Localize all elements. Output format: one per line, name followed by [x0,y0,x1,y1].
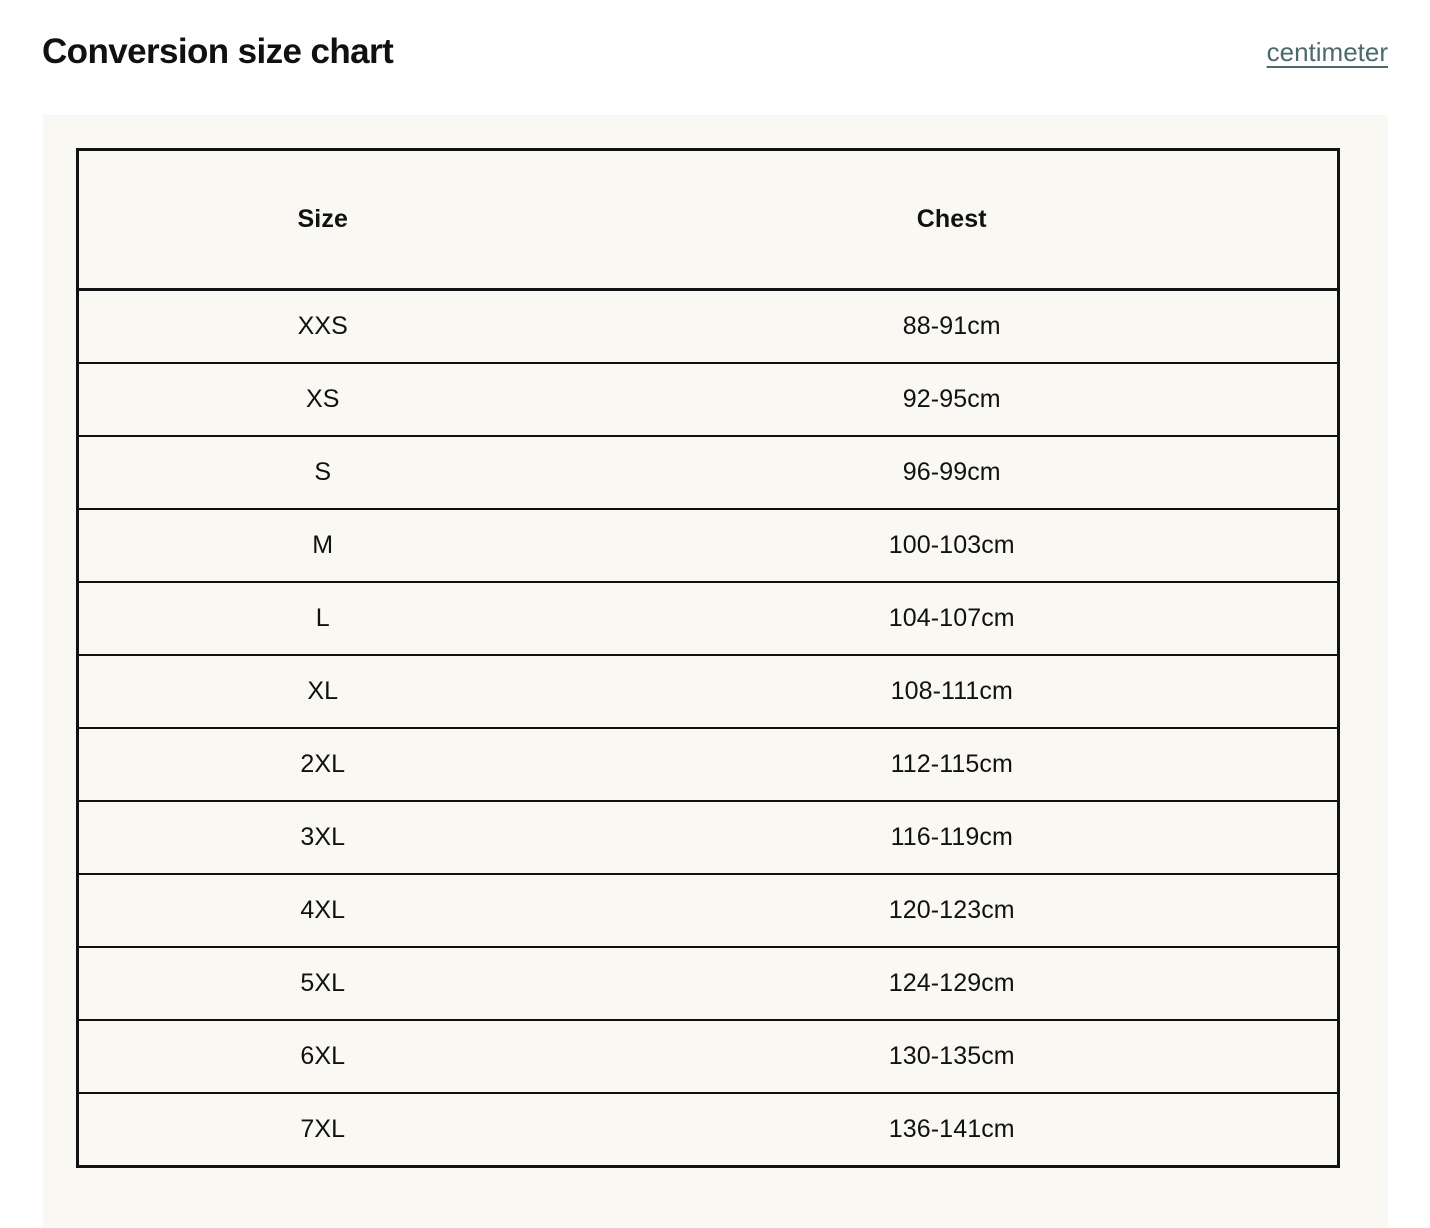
cell-chest: 120-123cm [567,874,1339,947]
cell-size: M [78,509,567,582]
cell-size: 3XL [78,801,567,874]
cell-size: 7XL [78,1093,567,1167]
size-chart-page: Conversion size chart centimeter Size Ch… [0,0,1430,1228]
table-header-row: Size Chest [78,150,1339,290]
table-row: XL108-111cm [78,655,1339,728]
column-header-size: Size [78,150,567,290]
cell-size: 5XL [78,947,567,1020]
unit-toggle-link[interactable]: centimeter [1267,36,1388,69]
cell-size: 2XL [78,728,567,801]
conversion-size-table: Size Chest XXS88-91cmXS92-95cmS96-99cmM1… [76,148,1340,1168]
cell-chest: 96-99cm [567,436,1339,509]
table-body: XXS88-91cmXS92-95cmS96-99cmM100-103cmL10… [78,290,1339,1167]
cell-chest: 136-141cm [567,1093,1339,1167]
cell-size: S [78,436,567,509]
table-row: 5XL124-129cm [78,947,1339,1020]
cell-size: XL [78,655,567,728]
table-row: 7XL136-141cm [78,1093,1339,1167]
table-header: Size Chest [78,150,1339,290]
cell-chest: 88-91cm [567,290,1339,364]
cell-size: XXS [78,290,567,364]
cell-chest: 108-111cm [567,655,1339,728]
page-header: Conversion size chart centimeter [0,0,1430,112]
table-row: XXS88-91cm [78,290,1339,364]
cell-chest: 130-135cm [567,1020,1339,1093]
cell-chest: 116-119cm [567,801,1339,874]
page-title: Conversion size chart [42,30,393,74]
table-row: L104-107cm [78,582,1339,655]
cell-chest: 100-103cm [567,509,1339,582]
table-row: 2XL112-115cm [78,728,1339,801]
column-header-chest: Chest [567,150,1339,290]
size-chart-panel: Size Chest XXS88-91cmXS92-95cmS96-99cmM1… [43,115,1388,1228]
table-row: M100-103cm [78,509,1339,582]
cell-chest: 104-107cm [567,582,1339,655]
cell-size: L [78,582,567,655]
table-row: 3XL116-119cm [78,801,1339,874]
table-row: XS92-95cm [78,363,1339,436]
table-row: 4XL120-123cm [78,874,1339,947]
cell-chest: 124-129cm [567,947,1339,1020]
cell-chest: 92-95cm [567,363,1339,436]
table-row: S96-99cm [78,436,1339,509]
cell-chest: 112-115cm [567,728,1339,801]
table-row: 6XL130-135cm [78,1020,1339,1093]
cell-size: 6XL [78,1020,567,1093]
cell-size: XS [78,363,567,436]
cell-size: 4XL [78,874,567,947]
